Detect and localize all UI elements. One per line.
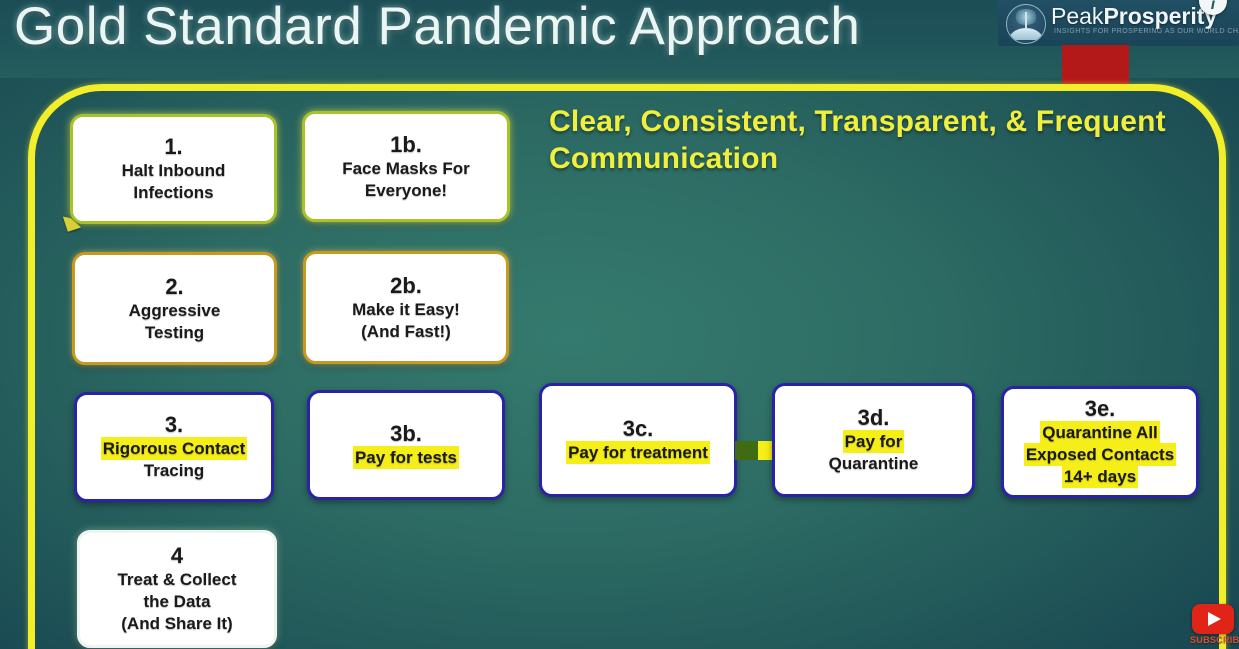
card-2-line-2: Testing: [145, 322, 204, 344]
slide-canvas: Gold Standard Pandemic Approach PeakPros…: [0, 0, 1239, 649]
card-4[interactable]: 4 Treat & Collect the Data (And Share It…: [77, 530, 277, 648]
card-2-line-1: Aggressive: [129, 300, 221, 322]
card-3b-number: 3b.: [390, 421, 422, 447]
card-1b[interactable]: 1b. Face Masks For Everyone!: [302, 111, 510, 222]
card-3c-number: 3c.: [623, 416, 654, 442]
card-4-line-1: Treat & Collect: [117, 569, 236, 591]
card-2b-line-2: (And Fast!): [361, 321, 451, 343]
card-1b-line-1: Face Masks For: [342, 158, 470, 180]
card-3c-line-1: Pay for treatment: [568, 442, 708, 464]
card-3e-line-2: Exposed Contacts: [1026, 444, 1174, 466]
card-2b-line-1: Make it Easy!: [352, 299, 460, 321]
red-accent-block: [1062, 45, 1129, 89]
logo-wordmark: PeakProsperity: [1051, 3, 1217, 29]
subscribe-label: SUBSCRIBE: [1190, 635, 1236, 645]
card-2b-number: 2b.: [390, 273, 422, 299]
card-1[interactable]: 1. Halt Inbound Infections: [70, 114, 277, 224]
card-4-line-3: (And Share It): [121, 613, 232, 635]
card-4-line-2: the Data: [143, 591, 210, 613]
card-1b-number: 1b.: [390, 132, 422, 158]
logo-tagline: INSIGHTS FOR PROSPERING AS OUR WORLD CHA…: [1054, 28, 1239, 35]
card-4-number: 4: [171, 543, 183, 569]
card-3e-line-1: Quarantine All: [1042, 422, 1158, 444]
card-3-number: 3.: [165, 412, 183, 438]
tree-ground-icon: [1009, 28, 1043, 40]
card-3d[interactable]: 3d. Pay for Quarantine: [772, 383, 975, 497]
card-3d-line-2: Quarantine: [829, 453, 919, 475]
card-3-line-2: Tracing: [144, 460, 204, 482]
page-title: Gold Standard Pandemic Approach: [14, 0, 860, 57]
card-3d-number: 3d.: [858, 405, 890, 431]
card-2b[interactable]: 2b. Make it Easy! (And Fast!): [303, 251, 509, 364]
card-1b-line-2: Everyone!: [365, 180, 447, 202]
card-3d-line-1: Pay for: [845, 431, 903, 453]
card-3-line-1: Rigorous Contact: [103, 438, 246, 460]
card-3b[interactable]: 3b. Pay for tests: [307, 390, 505, 500]
communication-headline: Clear, Consistent, Transparent, & Freque…: [549, 103, 1189, 177]
card-3e-line-3: 14+ days: [1064, 466, 1136, 488]
card-1-line-1: Halt Inbound: [122, 160, 226, 182]
card-1-line-2: Infections: [133, 182, 213, 204]
card-1-number: 1.: [164, 134, 182, 160]
logo-word-peak: Peak: [1051, 3, 1103, 29]
card-3e-number: 3e.: [1085, 396, 1116, 422]
card-3c[interactable]: 3c. Pay for treatment: [539, 383, 737, 497]
card-2-number: 2.: [165, 274, 183, 300]
card-3e[interactable]: 3e. Quarantine All Exposed Contacts 14+ …: [1001, 386, 1199, 498]
youtube-subscribe-overlay[interactable]: SUBSCRIBE: [1190, 604, 1236, 649]
card-3[interactable]: 3. Rigorous Contact Tracing: [74, 392, 274, 502]
card-2[interactable]: 2. Aggressive Testing: [72, 252, 277, 365]
card-3b-line-1: Pay for tests: [355, 447, 457, 469]
tree-logo-icon: [1006, 4, 1046, 44]
youtube-play-icon[interactable]: [1192, 604, 1234, 634]
